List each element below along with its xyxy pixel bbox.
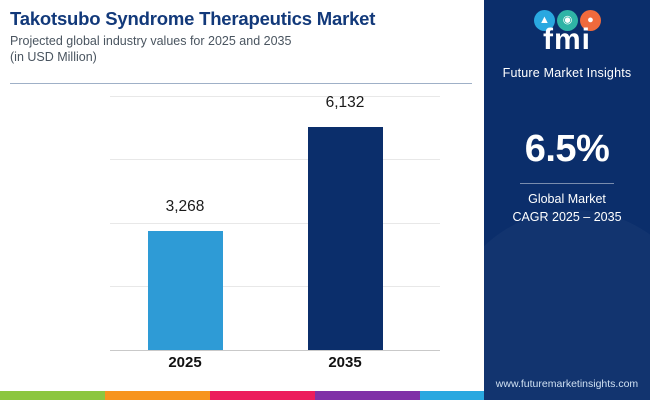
cagr-label: Global Market CAGR 2025 – 2035 [484,190,650,226]
bar-series: 3,268 6,132 [110,96,440,350]
cagr-label-line-1: Global Market [484,190,650,208]
website-url[interactable]: www.futuremarketinsights.com [484,378,650,390]
strip-segment-orange [105,391,210,400]
bar-value-2035: 6,132 [270,94,420,112]
color-strip [0,391,484,400]
strip-segment-purple [315,391,420,400]
plot-area: 3,268 6,132 [110,96,440,350]
logo-block: ▲ ◉ ● fmi Future Market Insights [484,10,650,80]
bar-group-2025: 3,268 [110,96,260,350]
title-block: Takotsubo Syndrome Therapeutics Market P… [10,8,472,65]
title-divider [10,83,472,84]
infographic-page: Takotsubo Syndrome Therapeutics Market P… [0,0,650,400]
fmi-logo: ▲ ◉ ● fmi [508,10,626,58]
bar-group-2035: 6,132 [270,96,420,350]
page-title: Takotsubo Syndrome Therapeutics Market [10,8,472,30]
strip-segment-blue [420,391,484,400]
cagr-divider [520,183,614,184]
strip-segment-pink [210,391,315,400]
bar-2035[interactable] [308,127,383,350]
bar-value-2025: 3,268 [110,198,260,216]
x-tick-label-2035: 2035 [270,354,420,371]
strip-segment-green [0,391,105,400]
chart-panel: Takotsubo Syndrome Therapeutics Market P… [0,0,484,400]
subtitle-line-1: Projected global industry values for 202… [10,33,472,49]
cagr-value: 6.5% [484,128,650,171]
subtitle-line-2: (in USD Million) [10,49,472,65]
logo-wordmark: fmi [508,23,626,57]
x-tick-label-2025: 2025 [110,354,260,371]
bar-2025[interactable] [148,231,223,350]
brand-panel: ▲ ◉ ● fmi Future Market Insights 6.5% Gl… [484,0,650,400]
x-axis-line [110,350,440,351]
cagr-label-line-2: CAGR 2025 – 2035 [484,208,650,226]
page-subtitle: Projected global industry values for 202… [10,33,472,65]
logo-company-name: Future Market Insights [484,66,650,80]
